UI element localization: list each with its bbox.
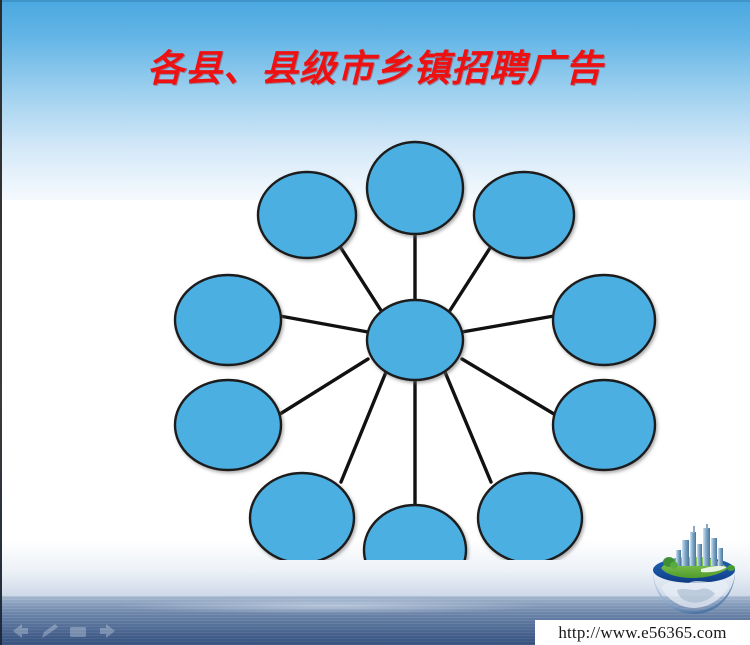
- diagram-node-6[interactable]: [175, 380, 281, 470]
- diagram-node-9[interactable]: [478, 473, 582, 560]
- radial-diagram: [160, 120, 670, 560]
- diagram-node-8[interactable]: [250, 473, 354, 560]
- watermark-url-box: http://www.e56365.com: [535, 620, 750, 645]
- connector-to-node-8: [341, 372, 386, 482]
- connector-to-node-6: [280, 359, 368, 414]
- menu-box-icon[interactable]: [70, 627, 86, 637]
- diagram-node-7[interactable]: [553, 380, 655, 470]
- arrow-right-icon[interactable]: [100, 624, 115, 638]
- slide-top-edge: [0, 0, 750, 2]
- presentation-controls[interactable]: [8, 622, 128, 640]
- connector-to-node-9: [445, 372, 491, 482]
- watermark-url-text: http://www.e56365.com: [558, 623, 726, 643]
- diagram-node-5[interactable]: [553, 275, 655, 365]
- connector-to-node-7: [462, 359, 554, 414]
- diagram-node-1[interactable]: [367, 142, 463, 234]
- slide-left-edge: [0, 0, 2, 645]
- connector-to-node-5: [462, 316, 554, 332]
- pen-icon[interactable]: [42, 624, 58, 638]
- arrow-left-icon[interactable]: [13, 624, 28, 638]
- diagram-node-4[interactable]: [175, 275, 281, 365]
- diagram-node-2[interactable]: [258, 172, 356, 258]
- diagram-node-10[interactable]: [364, 505, 466, 560]
- presentation-slide: 各县、县级市乡镇招聘广告: [0, 0, 750, 645]
- diagram-center-node[interactable]: [367, 300, 463, 380]
- diagram-node-3[interactable]: [474, 172, 574, 258]
- connector-to-node-3: [449, 248, 490, 312]
- sea-light-reflection: [120, 598, 540, 614]
- globe-city-buildings: [676, 524, 723, 566]
- slide-title: 各县、县级市乡镇招聘广告: [0, 38, 750, 92]
- connector-to-node-2: [341, 248, 382, 312]
- connector-to-node-4: [280, 316, 368, 332]
- globe-city-image: [643, 524, 745, 616]
